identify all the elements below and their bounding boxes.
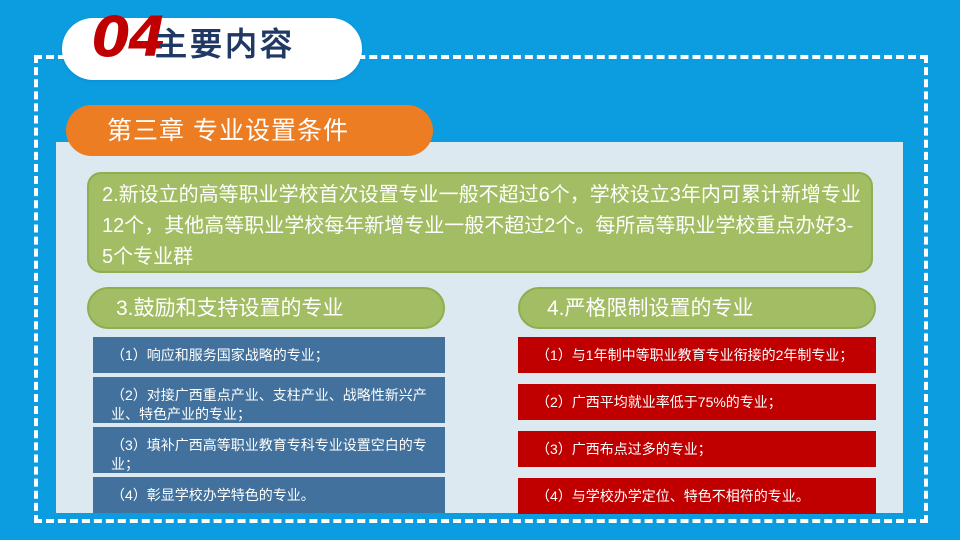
list-item: （1）与1年制中等职业教育专业衔接的2年制专业；	[518, 337, 876, 373]
slide-canvas: 04 主要内容 第三章 专业设置条件 2.新设立的高等职业学校首次设置专业一般不…	[0, 0, 960, 540]
list-item: （1）响应和服务国家战略的专业；	[93, 337, 445, 373]
summary-text: 2.新设立的高等职业学校首次设置专业一般不超过6个，学校设立3年内可累计新增专业…	[102, 180, 861, 273]
list-item: （3）填补广西高等职业教育专科专业设置空白的专业；	[93, 427, 445, 473]
column-header-restricted: 4.严格限制设置的专业	[518, 287, 876, 329]
page-title: 主要内容	[155, 28, 295, 60]
list-item: （4）彰显学校办学特色的专业。	[93, 477, 445, 513]
column-header-label: 3.鼓励和支持设置的专业	[116, 297, 344, 321]
column-header-label: 4.严格限制设置的专业	[547, 297, 754, 321]
list-item: （2）广西平均就业率低于75%的专业；	[518, 384, 876, 420]
column-header-encouraged: 3.鼓励和支持设置的专业	[87, 287, 445, 329]
list-item: （3）广西布点过多的专业；	[518, 431, 876, 467]
section-number: 04	[92, 10, 165, 65]
list-item: （4）与学校办学定位、特色不相符的专业。	[518, 478, 876, 514]
chapter-banner: 第三章 专业设置条件	[66, 105, 433, 156]
chapter-label: 第三章 专业设置条件	[107, 116, 349, 146]
summary-callout: 2.新设立的高等职业学校首次设置专业一般不超过6个，学校设立3年内可累计新增专业…	[87, 172, 873, 273]
list-item: （2）对接广西重点产业、支柱产业、战略性新兴产业、特色产业的专业；	[93, 377, 445, 423]
